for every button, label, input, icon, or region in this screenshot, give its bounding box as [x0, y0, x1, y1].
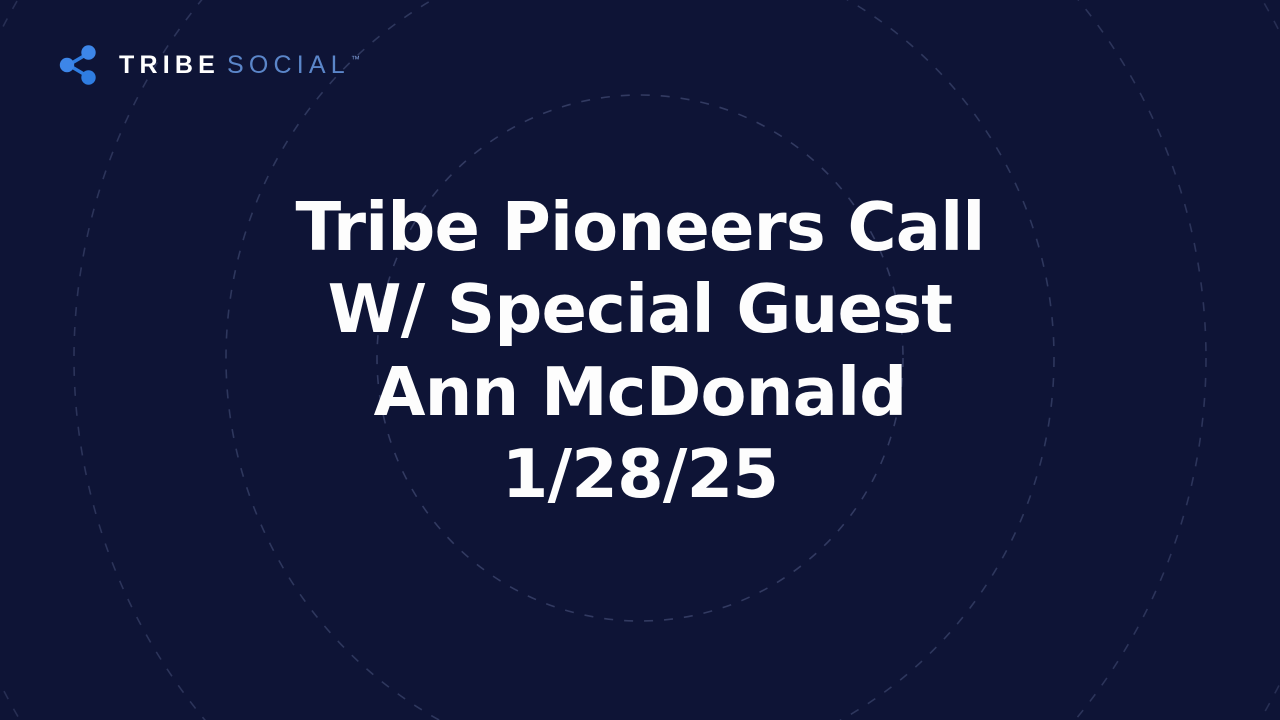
slide-title: Tribe Pioneers Call W/ Special Guest Ann…: [0, 186, 1280, 516]
title-line-3-guest-name: Ann McDonald: [40, 351, 1240, 433]
title-line-1: Tribe Pioneers Call: [40, 186, 1240, 268]
brand-wordmark: TRIBE SOCIAL ™: [119, 53, 359, 78]
trademark-symbol: ™: [351, 55, 360, 64]
title-line-2: W/ Special Guest: [40, 268, 1240, 350]
brand-logo-lockup[interactable]: TRIBE SOCIAL ™: [55, 42, 359, 88]
share-network-icon: [55, 42, 101, 88]
title-line-4-date: 1/28/25: [40, 433, 1240, 515]
presentation-slide: TRIBE SOCIAL ™ Tribe Pioneers Call W/ Sp…: [0, 0, 1280, 720]
brand-name-secondary: SOCIAL: [227, 53, 350, 78]
brand-name-primary: TRIBE: [119, 53, 220, 78]
